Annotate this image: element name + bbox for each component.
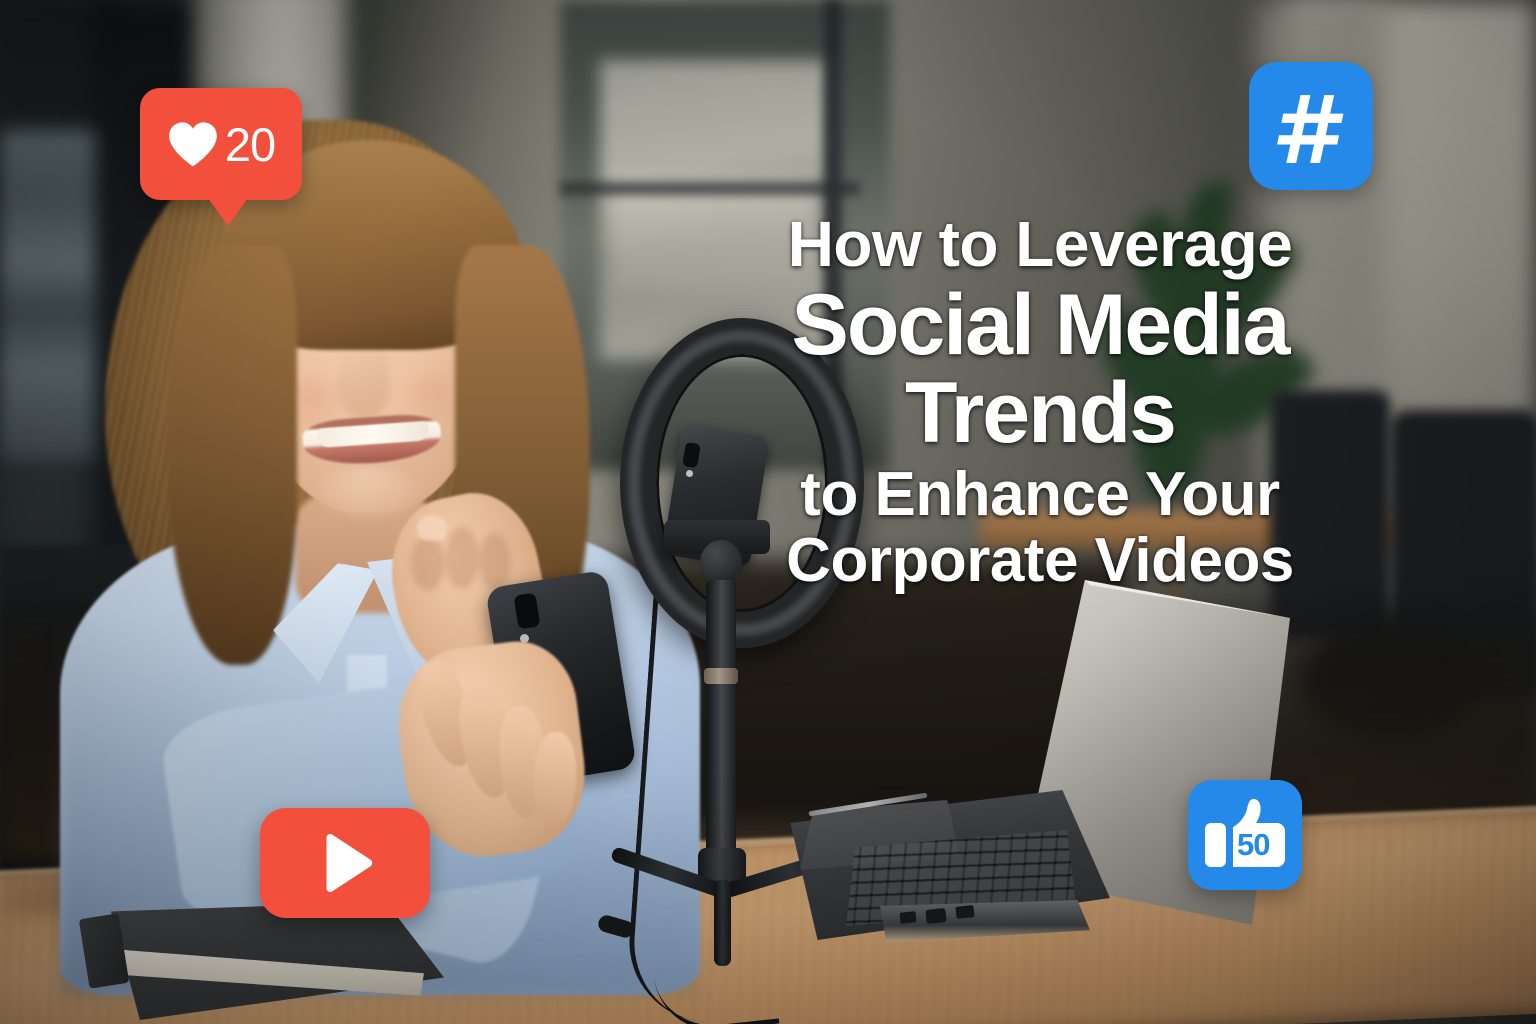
page-title: How to Leverage Social Media Trends to E… xyxy=(700,212,1380,592)
power-cable-desk xyxy=(651,934,780,1024)
knuckle xyxy=(445,527,479,589)
headline-line-2: Social Media xyxy=(700,282,1380,368)
heart-icon xyxy=(167,120,219,168)
laptop-port xyxy=(955,905,974,919)
social-media-blog-banner: How to Leverage Social Media Trends to E… xyxy=(0,0,1536,1024)
thumbs-up-count: 50 xyxy=(1237,829,1269,860)
chin xyxy=(307,467,427,525)
play-badge[interactable] xyxy=(260,808,430,918)
window-glass-left xyxy=(0,130,95,460)
tripod-collar xyxy=(704,668,738,684)
thumbs-up-group: 50 xyxy=(1203,797,1287,873)
headline-line-1: How to Leverage xyxy=(700,212,1380,276)
headline-line-4: to Enhance Your xyxy=(700,464,1380,526)
headline-line-5: Corporate Videos xyxy=(700,530,1380,592)
mounted-phone-flash-icon xyxy=(686,470,693,477)
headline-line-3: Trends xyxy=(700,370,1380,456)
knuckle xyxy=(411,535,445,591)
hashtag-icon xyxy=(1274,89,1348,163)
fingernail xyxy=(417,515,447,541)
hashtag-badge[interactable] xyxy=(1249,62,1373,190)
laptop-port xyxy=(899,911,916,924)
laptop-port xyxy=(925,908,946,924)
thumbs-up-badge[interactable]: 50 xyxy=(1188,780,1302,890)
knuckle xyxy=(479,533,511,591)
tripod-pole xyxy=(706,580,736,860)
like-badge[interactable]: 20 xyxy=(140,88,302,200)
like-count: 20 xyxy=(225,121,275,168)
hair-side-left xyxy=(167,245,297,665)
play-icon xyxy=(319,832,377,894)
